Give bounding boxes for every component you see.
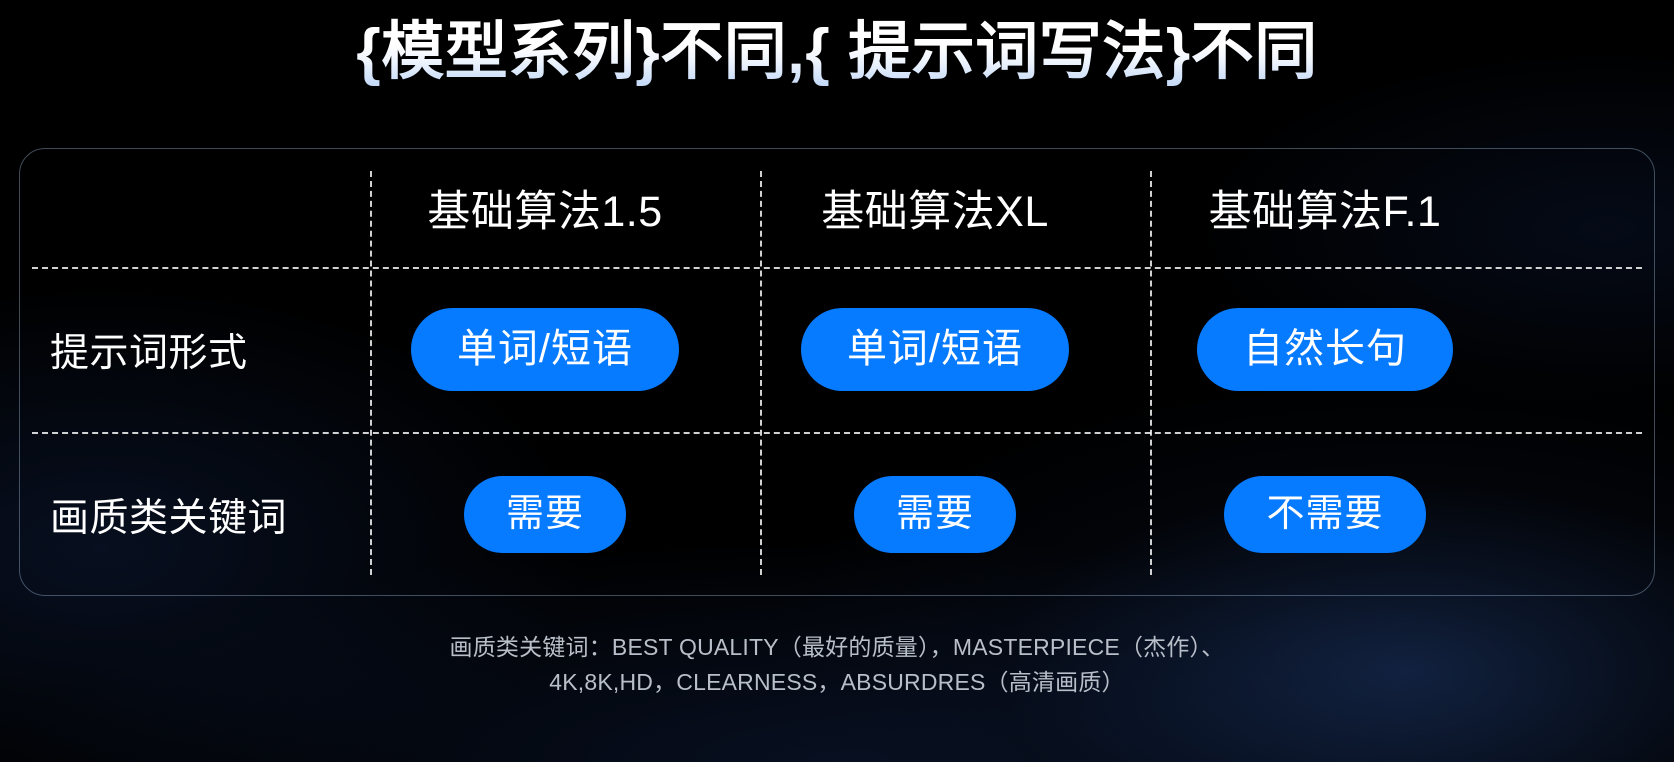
- column-divider-1: [370, 171, 372, 575]
- table-column-header-2: 基础算法F.1: [1130, 149, 1520, 267]
- slide-root: {模型系列}不同,{ 提示词写法}不同 基础算法1.5 基础算法XL 基础算法F…: [0, 0, 1674, 762]
- table-cell-r1-c0: 需要: [350, 432, 740, 596]
- page-title: {模型系列}不同,{ 提示词写法}不同: [0, 4, 1674, 100]
- table-corner-cell: [20, 149, 350, 267]
- row-divider-1: [32, 267, 1642, 269]
- value-pill[interactable]: 单词/短语: [411, 308, 679, 391]
- column-divider-3: [1150, 171, 1152, 575]
- column-header-label: 基础算法1.5: [427, 177, 662, 239]
- table-row-header-1: 画质类关键词: [20, 432, 350, 596]
- row-header-label: 画质类关键词: [50, 487, 287, 543]
- row-header-label: 提示词形式: [50, 322, 248, 378]
- row-divider-2: [32, 432, 1642, 434]
- table-cell-r0-c1: 单词/短语: [740, 267, 1130, 432]
- table-cell-r0-c0: 单词/短语: [350, 267, 740, 432]
- value-pill[interactable]: 需要: [464, 476, 626, 553]
- table-row-header-0: 提示词形式: [20, 267, 350, 432]
- table-cell-r0-c2: 自然长句: [1130, 267, 1520, 432]
- value-pill[interactable]: 不需要: [1224, 476, 1425, 553]
- comparison-table-card: 基础算法1.5 基础算法XL 基础算法F.1 提示词形式 单词/短语 单词/短语…: [19, 148, 1655, 596]
- table-cell-r1-c2: 不需要: [1130, 432, 1520, 596]
- table-column-header-0: 基础算法1.5: [350, 149, 740, 267]
- comparison-table: 基础算法1.5 基础算法XL 基础算法F.1 提示词形式 单词/短语 单词/短语…: [20, 149, 1654, 595]
- table-cell-r1-c1: 需要: [740, 432, 1130, 596]
- value-pill[interactable]: 自然长句: [1197, 308, 1453, 391]
- footnote: 画质类关键词：BEST QUALITY（最好的质量），MASTERPIECE（杰…: [0, 630, 1674, 700]
- value-pill[interactable]: 需要: [854, 476, 1016, 553]
- column-divider-2: [760, 171, 762, 575]
- footnote-line-1: 画质类关键词：BEST QUALITY（最好的质量），MASTERPIECE（杰…: [0, 630, 1674, 665]
- value-pill[interactable]: 单词/短语: [801, 308, 1069, 391]
- column-header-label: 基础算法XL: [821, 177, 1049, 239]
- table-column-header-1: 基础算法XL: [740, 149, 1130, 267]
- footnote-line-2: 4K,8K,HD，CLEARNESS，ABSURDRES（高清画质）: [0, 665, 1674, 700]
- column-header-label: 基础算法F.1: [1209, 177, 1442, 239]
